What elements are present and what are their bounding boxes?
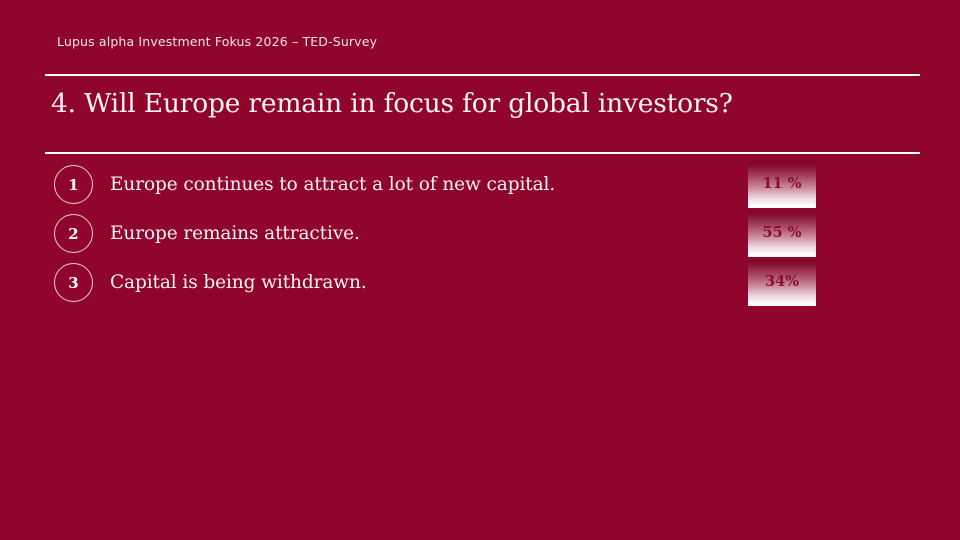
slide-header: Lupus alpha Investment Fokus 2026 – TED-… [57, 34, 377, 49]
result-percent-1: 11 % [748, 175, 816, 192]
title-divider-rule [45, 152, 920, 154]
answer-number-badge-3: 3 [54, 263, 93, 302]
answer-number-badge-2: 2 [54, 214, 93, 253]
result-bar-3: 34% [748, 260, 816, 306]
answer-row-1[interactable]: 1 Europe continues to attract a lot of n… [0, 161, 960, 209]
answer-number-badge-1: 1 [54, 165, 93, 204]
answer-row-2[interactable]: 2 Europe remains attractive. 55 % [0, 210, 960, 258]
page-title: 4. Will Europe remain in focus for globa… [51, 88, 733, 119]
answer-label-2: Europe remains attractive. [110, 210, 360, 258]
survey-slide: Lupus alpha Investment Fokus 2026 – TED-… [0, 0, 960, 540]
header-divider-rule [45, 74, 920, 76]
result-percent-3: 34% [748, 273, 816, 290]
answer-label-3: Capital is being withdrawn. [110, 259, 367, 307]
answer-label-1: Europe continues to attract a lot of new… [110, 161, 555, 209]
result-bar-2: 55 % [748, 211, 816, 257]
answer-row-3[interactable]: 3 Capital is being withdrawn. 34% [0, 259, 960, 307]
result-percent-2: 55 % [748, 224, 816, 241]
answer-list: 1 Europe continues to attract a lot of n… [0, 161, 960, 308]
result-bar-1: 11 % [748, 162, 816, 208]
